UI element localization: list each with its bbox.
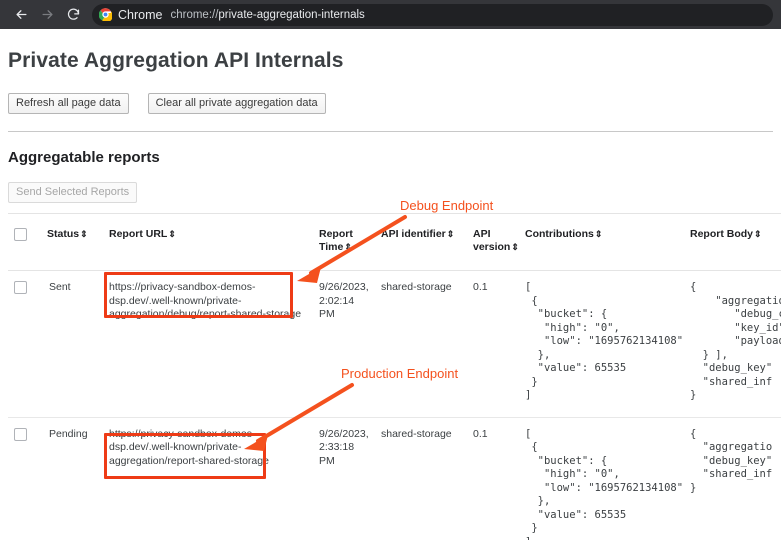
row-select-checkbox[interactable] bbox=[14, 281, 27, 294]
omnibox-url-path: private-aggregation-internals bbox=[218, 9, 364, 21]
omnibox-url-text: chrome://private-aggregation-internals bbox=[170, 9, 364, 21]
contributions-cell: [ { "bucket": { "high": "0", "low": "169… bbox=[519, 417, 684, 540]
table-header-row: Status⇕ Report URL⇕ Report Time⇕ API ide… bbox=[8, 214, 781, 271]
status-cell: Pending bbox=[41, 417, 103, 540]
column-header-api-version[interactable]: API version⇕ bbox=[467, 214, 519, 271]
column-header-report-time[interactable]: Report Time⇕ bbox=[313, 214, 375, 271]
section-title-aggregatable-reports: Aggregatable reports bbox=[8, 149, 773, 166]
api-identifier-cell: shared-storage bbox=[375, 417, 467, 540]
table-header: Status⇕ Report URL⇕ Report Time⇕ API ide… bbox=[8, 214, 781, 271]
row-select-cell bbox=[8, 271, 41, 418]
contributions-cell: [ { "bucket": { "high": "0", "low": "169… bbox=[519, 271, 684, 418]
column-header-report-url[interactable]: Report URL⇕ bbox=[103, 214, 313, 271]
column-header-report-body-label: Report Body bbox=[690, 228, 753, 240]
table-body: Sent https://privacy-sandbox-demos-dsp.d… bbox=[8, 271, 781, 540]
column-header-contributions-label: Contributions bbox=[525, 228, 594, 240]
omnibox-url-scheme: chrome:// bbox=[170, 9, 218, 21]
page-action-buttons: Refresh all page data Clear all private … bbox=[8, 93, 773, 114]
production-endpoint-annotation-label: Production Endpoint bbox=[341, 366, 458, 381]
column-header-api-identifier-label: API identifier bbox=[381, 228, 446, 240]
page-content: Private Aggregation API Internals Refres… bbox=[0, 29, 781, 540]
report-time-cell: 9/26/2023, 2:02:14 PM bbox=[313, 271, 375, 418]
section-divider bbox=[8, 131, 773, 132]
status-cell: Sent bbox=[41, 271, 103, 418]
back-arrow-icon[interactable] bbox=[8, 2, 34, 28]
sort-indicator-icon: ⇕ bbox=[511, 242, 519, 252]
column-header-status-label: Status bbox=[47, 228, 79, 240]
sort-indicator-icon: ⇕ bbox=[168, 229, 176, 239]
sort-indicator-icon: ⇕ bbox=[80, 229, 88, 239]
report-body-cell: { "aggregatio "debug_c "key_id" "payload… bbox=[684, 271, 781, 418]
column-header-contributions[interactable]: Contributions⇕ bbox=[519, 214, 684, 271]
column-header-api-identifier[interactable]: API identifier⇕ bbox=[375, 214, 467, 271]
refresh-all-page-data-button[interactable]: Refresh all page data bbox=[8, 93, 129, 114]
send-reports-row: Send Selected Reports bbox=[8, 182, 773, 203]
column-header-report-url-label: Report URL bbox=[109, 228, 167, 240]
select-all-header bbox=[8, 214, 41, 271]
api-version-cell: 0.1 bbox=[467, 417, 519, 540]
table-row: Pending https://privacy-sandbox-demos-ds… bbox=[8, 417, 781, 540]
table-row: Sent https://privacy-sandbox-demos-dsp.d… bbox=[8, 271, 781, 418]
browser-toolbar: Chrome chrome://private-aggregation-inte… bbox=[0, 0, 781, 29]
report-time-cell: 9/26/2023, 2:33:18 PM bbox=[313, 417, 375, 540]
report-url-cell: https://privacy-sandbox-demos-dsp.dev/.w… bbox=[103, 271, 313, 418]
sort-indicator-icon: ⇕ bbox=[344, 242, 352, 252]
debug-endpoint-annotation-label: Debug Endpoint bbox=[400, 198, 493, 213]
clear-all-private-aggregation-data-button[interactable]: Clear all private aggregation data bbox=[148, 93, 326, 114]
report-url-text: https://privacy-sandbox-demos-dsp.dev/.w… bbox=[109, 428, 269, 467]
send-selected-reports-button[interactable]: Send Selected Reports bbox=[8, 182, 137, 203]
reload-icon[interactable] bbox=[60, 2, 86, 28]
column-header-api-version-label: API version bbox=[473, 228, 510, 253]
sort-indicator-icon: ⇕ bbox=[754, 229, 762, 239]
column-header-report-body[interactable]: Report Body⇕ bbox=[684, 214, 781, 271]
select-all-checkbox[interactable] bbox=[14, 228, 27, 241]
omnibox-brand-label: Chrome bbox=[118, 8, 162, 22]
api-version-cell: 0.1 bbox=[467, 271, 519, 418]
sort-indicator-icon: ⇕ bbox=[447, 229, 455, 239]
row-select-cell bbox=[8, 417, 41, 540]
report-url-text: https://privacy-sandbox-demos-dsp.dev/.w… bbox=[109, 281, 301, 320]
sort-indicator-icon: ⇕ bbox=[595, 229, 603, 239]
report-url-cell: https://privacy-sandbox-demos-dsp.dev/.w… bbox=[103, 417, 313, 540]
column-header-status[interactable]: Status⇕ bbox=[41, 214, 103, 271]
report-body-cell: { "aggregatio "debug_key" "shared_inf } bbox=[684, 417, 781, 540]
omnibox[interactable]: Chrome chrome://private-aggregation-inte… bbox=[92, 4, 773, 26]
forward-arrow-icon[interactable] bbox=[34, 2, 60, 28]
api-identifier-cell: shared-storage bbox=[375, 271, 467, 418]
row-select-checkbox[interactable] bbox=[14, 428, 27, 441]
chrome-logo-icon bbox=[99, 8, 112, 21]
page-title: Private Aggregation API Internals bbox=[8, 49, 773, 73]
